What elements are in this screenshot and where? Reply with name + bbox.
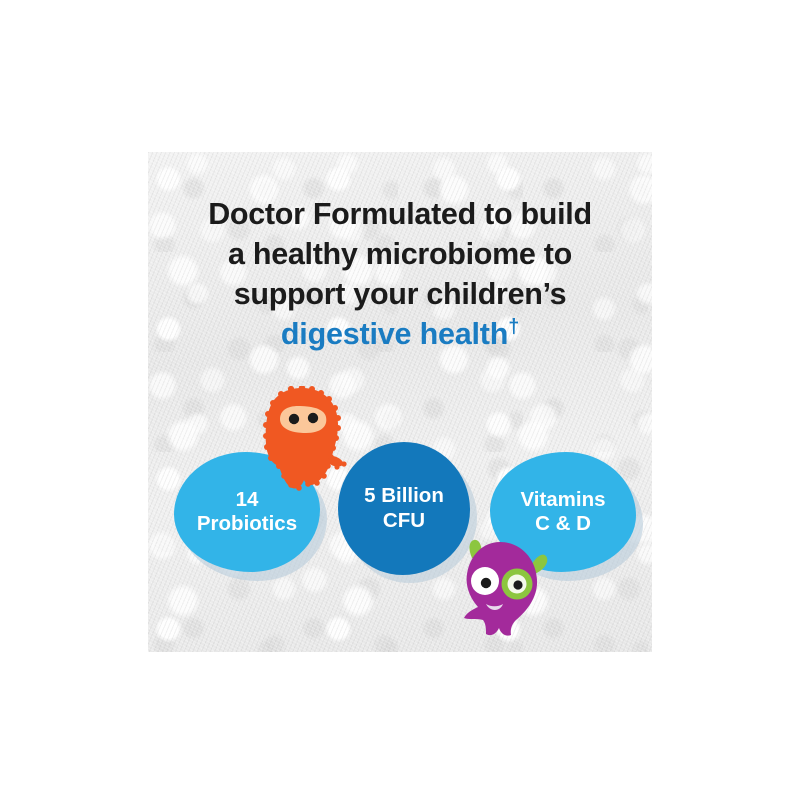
textured-paper-panel: Doctor Formulated to build a healthy mic… — [148, 152, 652, 652]
orange-mascot-icon — [254, 386, 350, 497]
headline-line-3: support your children’s — [148, 274, 652, 314]
badge-probiotics-line-2: Probiotics — [197, 512, 297, 535]
badge-cfu-line-1: 5 Billion — [364, 484, 444, 507]
badge-vitamins-line-2: C & D — [535, 512, 591, 535]
badge-cfu-text: 5 BillionCFU — [364, 484, 444, 532]
badge-vitamins-text: VitaminsC & D — [520, 488, 605, 536]
headline-line-1: Doctor Formulated to build — [148, 194, 652, 234]
badge-cfu-line-2: CFU — [383, 509, 425, 532]
product-infographic-canvas: Doctor Formulated to build a healthy mic… — [0, 0, 800, 800]
headline-block: Doctor Formulated to build a healthy mic… — [148, 194, 652, 354]
headline-accent-text: digestive health — [281, 317, 508, 351]
headline-line-2: a healthy microbiome to — [148, 234, 652, 274]
purple-mascot-icon — [450, 534, 554, 647]
badge-vitamins-line-1: Vitamins — [520, 488, 605, 511]
headline-line-4-accent: digestive health† — [148, 314, 652, 354]
footnote-dagger-marker: † — [508, 316, 519, 338]
